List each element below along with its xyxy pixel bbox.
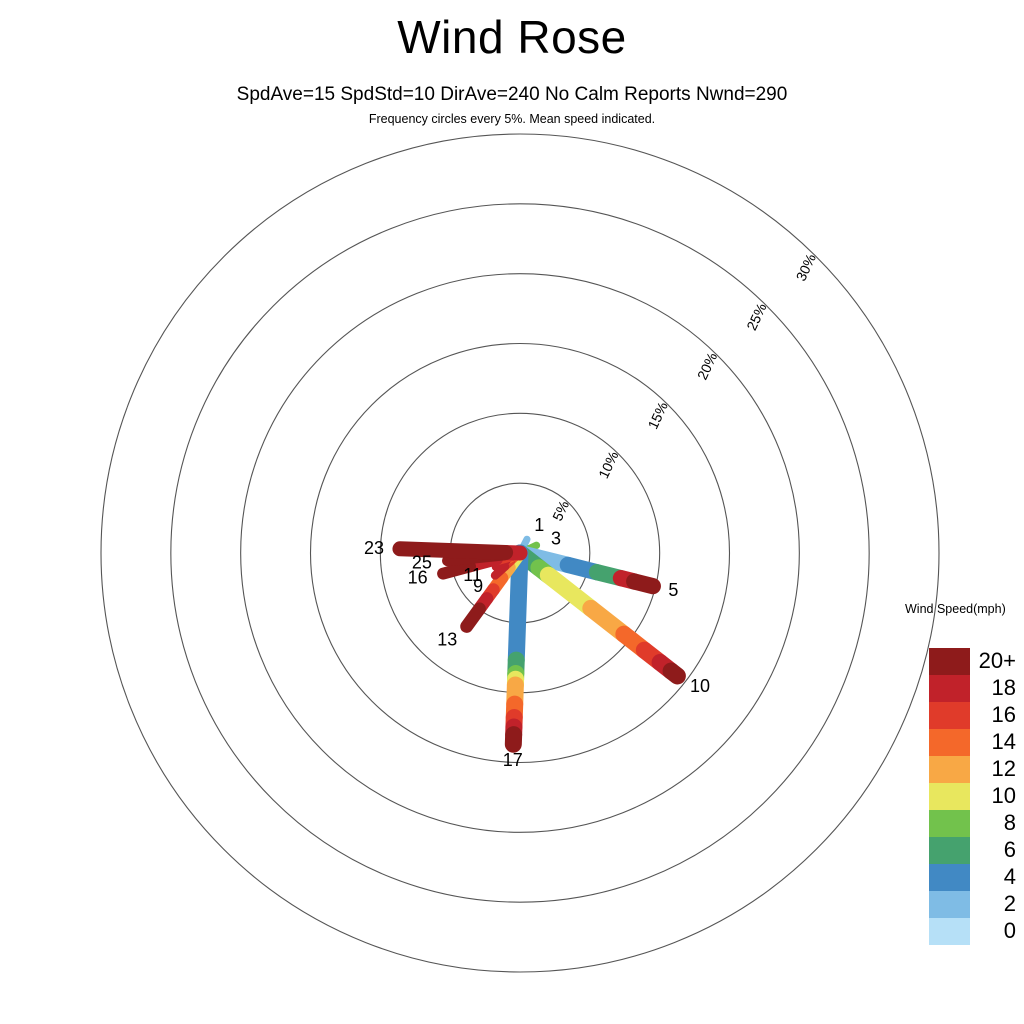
petal-mean-speed-label: 25 [412, 552, 432, 572]
legend-swatch[interactable] [929, 810, 970, 837]
legend-swatch[interactable] [929, 918, 970, 945]
legend-swatch[interactable] [929, 837, 970, 864]
legend-label: 4 [1004, 864, 1016, 889]
legend-swatch[interactable] [929, 702, 970, 729]
legend-label: 8 [1004, 810, 1016, 835]
legend-swatches[interactable]: 20+181614121086420 [929, 648, 1016, 945]
petal-mean-speed-label: 17 [503, 750, 523, 770]
legend-label: 0 [1004, 918, 1016, 943]
legend-swatch[interactable] [929, 756, 970, 783]
legend-title: Wind Speed(mph) [905, 602, 1006, 616]
legend-label: 14 [992, 729, 1016, 754]
petal-mean-speed-label: 5 [668, 580, 678, 600]
legend-label: 10 [992, 783, 1016, 808]
legend-label: 16 [992, 702, 1016, 727]
petal-mean-speed-label: 1 [534, 515, 544, 535]
ring-percent-label: 5% [549, 498, 572, 523]
petal-mean-speed-label: 11 [463, 565, 482, 585]
legend-swatch[interactable] [929, 729, 970, 756]
petal-mean-speed-label: 13 [437, 629, 457, 649]
petal-mean-speed-label: 23 [364, 538, 384, 558]
legend-swatch[interactable] [929, 864, 970, 891]
petal-mean-speed-label: 3 [551, 529, 561, 549]
legend-swatch[interactable] [929, 783, 970, 810]
petal-mean-speed-label: 10 [690, 676, 710, 696]
legend-swatch[interactable] [929, 891, 970, 918]
wind-rose-canvas: 5%10%15%20%25%30% 135101713911162523 20+… [0, 0, 1024, 1024]
legend-label: 12 [992, 756, 1016, 781]
legend-swatch[interactable] [929, 675, 970, 702]
petal-segment [634, 581, 653, 586]
legend-label: 18 [992, 675, 1016, 700]
legend-label: 6 [1004, 837, 1016, 862]
ring-percent-labels: 5%10%15%20%25%30% [549, 251, 819, 523]
legend-swatch[interactable] [929, 648, 970, 675]
petal-segment [671, 671, 677, 676]
legend-label: 2 [1004, 891, 1016, 916]
wind-rose-figure: Wind Rose SpdAve=15 SpdStd=10 DirAve=240… [0, 0, 1024, 1024]
petal-segment [467, 609, 480, 627]
legend-label: 20+ [979, 648, 1016, 673]
petal-segment [516, 553, 520, 660]
